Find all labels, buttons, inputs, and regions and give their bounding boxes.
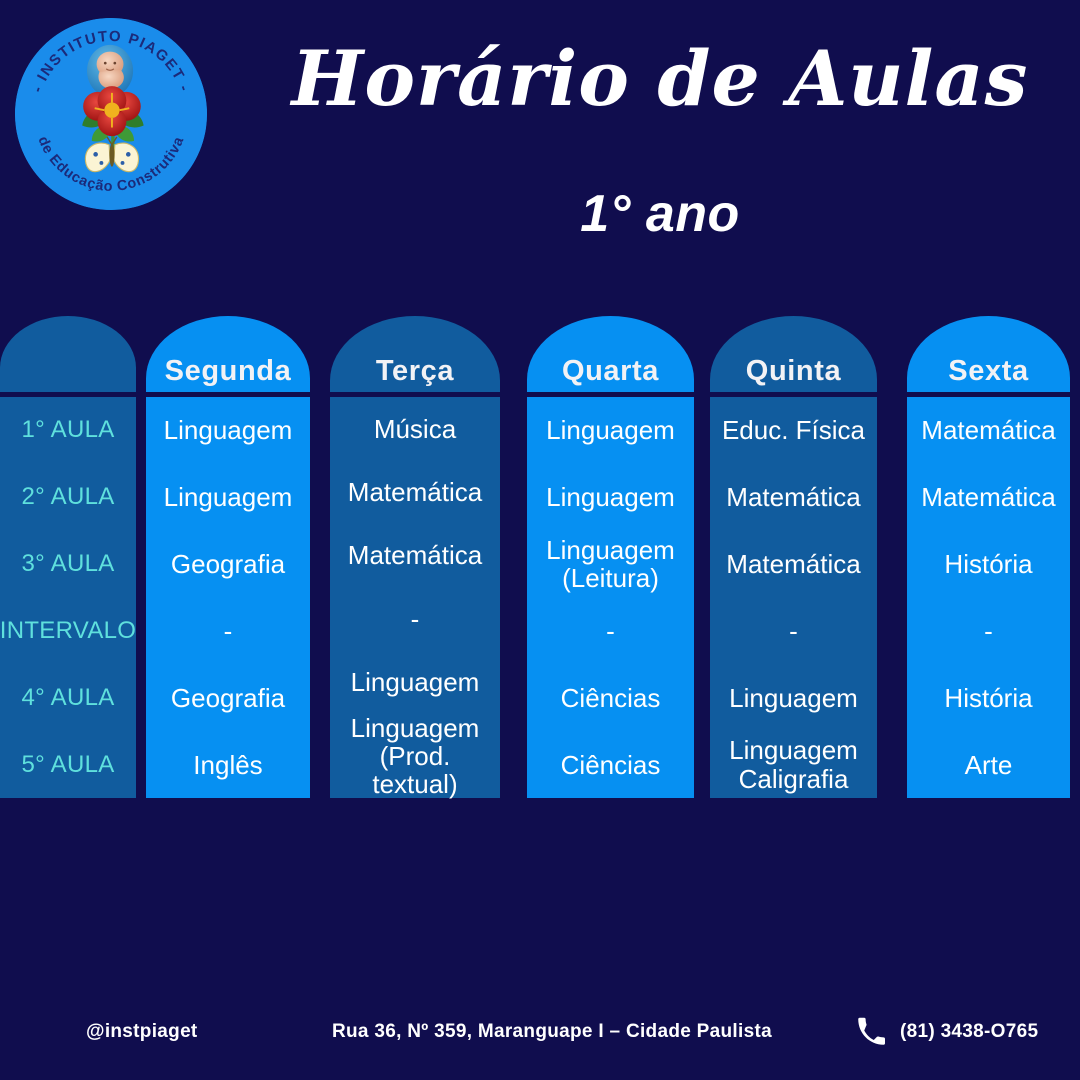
schedule-cell: Música bbox=[330, 397, 500, 460]
time-slot-label: 3° AULA bbox=[0, 531, 136, 598]
schedule-cell: - bbox=[527, 597, 694, 664]
institute-circular-logo: - INSTITUTO PIAGET - de Educação Constru… bbox=[15, 18, 207, 210]
schedule-cell: Matemática bbox=[710, 464, 877, 531]
time-slot-text: INTERVALO bbox=[0, 618, 136, 644]
schedule-cell: - bbox=[330, 587, 500, 650]
schedule-column-quarta: QuartaLinguagemLinguagemLinguagem(Leitur… bbox=[527, 316, 694, 798]
subject-text: Matemática bbox=[921, 483, 1055, 511]
subject-text: Linguagem bbox=[351, 668, 480, 696]
column-body-quinta: Educ. FísicaMatemáticaMatemática-Linguag… bbox=[710, 397, 877, 798]
schedule-cell: Linguagem bbox=[146, 464, 310, 531]
subject-text: LinguagemCaligrafia bbox=[729, 736, 858, 792]
subject-text: Linguagem bbox=[729, 684, 858, 712]
column-header-label: Sexta bbox=[948, 357, 1028, 386]
subject-text: Geografia bbox=[171, 684, 285, 712]
subject-text: Educ. Física bbox=[722, 416, 865, 444]
schedule-cell: Ciências bbox=[527, 664, 694, 731]
schedule-cell: Arte bbox=[907, 731, 1070, 798]
column-body-segunda: LinguagemLinguagemGeografia-GeografiaIng… bbox=[146, 397, 310, 798]
phone-number[interactable]: (81) 3438-O765 bbox=[900, 1021, 1038, 1043]
subject-text: Matemática bbox=[726, 550, 860, 578]
subject-text: Ciências bbox=[561, 751, 661, 779]
column-header-sexta: Sexta bbox=[907, 316, 1070, 392]
schedule-cell: Matemática bbox=[710, 531, 877, 598]
page-title: Horário de Aulas bbox=[250, 38, 1070, 120]
time-slot-label: 4° AULA bbox=[0, 664, 136, 731]
time-slot-label: INTERVALO bbox=[0, 597, 136, 664]
column-body-times: 1° AULA2° AULA3° AULAINTERVALO4° AULA5° … bbox=[0, 397, 136, 798]
subject-text: Matemática bbox=[726, 483, 860, 511]
schedule-cell: Geografia bbox=[146, 531, 310, 598]
subject-text: Linguagem bbox=[546, 483, 675, 511]
schedule-cell: Matemática bbox=[907, 397, 1070, 464]
schedule-cell: - bbox=[710, 597, 877, 664]
time-slot-label: 5° AULA bbox=[0, 731, 136, 798]
schedule-cell: Matemática bbox=[330, 524, 500, 587]
time-slot-label: 1° AULA bbox=[0, 397, 136, 464]
schedule-cell: Educ. Física bbox=[710, 397, 877, 464]
subject-text: - bbox=[984, 617, 993, 645]
subject-text: - bbox=[606, 617, 615, 645]
subject-text: Matemática bbox=[348, 478, 482, 506]
time-slot-text: 2° AULA bbox=[21, 484, 114, 510]
address-text: Rua 36, Nº 359, Maranguape I – Cidade Pa… bbox=[332, 1021, 772, 1043]
schedule-cell: Matemática bbox=[330, 460, 500, 523]
page-subtitle: 1° ano bbox=[250, 184, 1070, 244]
schedule-table: 1° AULA2° AULA3° AULAINTERVALO4° AULA5° … bbox=[0, 316, 1080, 798]
column-header-label: Quarta bbox=[562, 357, 659, 386]
schedule-cell: Inglês bbox=[146, 731, 310, 798]
subject-text: Arte bbox=[965, 751, 1013, 779]
schedule-column-quinta: QuintaEduc. FísicaMatemáticaMatemática-L… bbox=[710, 316, 877, 798]
schedule-cell: - bbox=[146, 597, 310, 664]
time-slot-text: 4° AULA bbox=[21, 685, 114, 711]
schedule-column-sexta: SextaMatemáticaMatemáticaHistória-Histór… bbox=[907, 316, 1070, 798]
time-slot-text: 5° AULA bbox=[21, 752, 114, 778]
time-slot-text: 1° AULA bbox=[21, 417, 114, 443]
subject-text: Linguagem(Leitura) bbox=[546, 536, 675, 592]
column-body-sexta: MatemáticaMatemáticaHistória-HistóriaArt… bbox=[907, 397, 1070, 798]
subject-text: Linguagem bbox=[164, 483, 293, 511]
time-slot-label: 2° AULA bbox=[0, 464, 136, 531]
subject-text: - bbox=[789, 617, 798, 645]
subject-text: Linguagem bbox=[164, 416, 293, 444]
subject-text: - bbox=[411, 605, 420, 633]
column-header-terca: Terça bbox=[330, 316, 500, 392]
subject-text: Inglês bbox=[193, 751, 262, 779]
footer: @instpiaget Rua 36, Nº 359, Maranguape I… bbox=[0, 1012, 1080, 1052]
schedule-column-terca: TerçaMúsicaMatemáticaMatemática-Linguage… bbox=[330, 316, 500, 798]
schedule-cell: História bbox=[907, 531, 1070, 598]
column-header-label: Quinta bbox=[746, 357, 841, 386]
institute-logo: - INSTITUTO PIAGET - de Educação Constru… bbox=[15, 18, 207, 210]
schedule-cell: Linguagem(Leitura) bbox=[527, 531, 694, 598]
schedule-cell: Geografia bbox=[146, 664, 310, 731]
time-slot-text: 3° AULA bbox=[21, 551, 114, 577]
schedule-column-segunda: SegundaLinguagemLinguagemGeografia-Geogr… bbox=[146, 316, 310, 798]
subject-text: - bbox=[224, 617, 233, 645]
schedule-cell: Linguagem bbox=[710, 664, 877, 731]
subject-text: Ciências bbox=[561, 684, 661, 712]
schedule-cell: Linguagem bbox=[146, 397, 310, 464]
schedule-cell: História bbox=[907, 664, 1070, 731]
schedule-cell: Linguagem bbox=[527, 397, 694, 464]
column-header-quarta: Quarta bbox=[527, 316, 694, 392]
schedule-cell: Matemática bbox=[907, 464, 1070, 531]
column-header-label: Terça bbox=[376, 357, 454, 386]
schedule-cell: LinguagemCaligrafia bbox=[710, 731, 877, 798]
column-header-times bbox=[0, 316, 136, 392]
schedule-cell: Linguagem bbox=[527, 464, 694, 531]
phone-icon bbox=[856, 1017, 886, 1047]
subject-text: Matemática bbox=[921, 416, 1055, 444]
subject-text: Linguagem(Prod. textual) bbox=[334, 714, 496, 798]
instagram-handle[interactable]: @instpiaget bbox=[86, 1021, 198, 1043]
column-header-label: Segunda bbox=[165, 357, 292, 386]
subject-text: Geografia bbox=[171, 550, 285, 578]
subject-text: História bbox=[944, 684, 1032, 712]
schedule-cell: - bbox=[907, 597, 1070, 664]
schedule-cell: Linguagem bbox=[330, 650, 500, 713]
subject-text: História bbox=[944, 550, 1032, 578]
subject-text: Linguagem bbox=[546, 416, 675, 444]
schedule-cell: Ciências bbox=[527, 731, 694, 798]
column-header-segunda: Segunda bbox=[146, 316, 310, 392]
column-header-quinta: Quinta bbox=[710, 316, 877, 392]
column-body-quarta: LinguagemLinguagemLinguagem(Leitura)-Ciê… bbox=[527, 397, 694, 798]
subject-text: Matemática bbox=[348, 541, 482, 569]
schedule-cell: Linguagem(Prod. textual) bbox=[330, 714, 500, 798]
column-body-terca: MúsicaMatemáticaMatemática-LinguagemLing… bbox=[330, 397, 500, 798]
schedule-column-times: 1° AULA2° AULA3° AULAINTERVALO4° AULA5° … bbox=[0, 316, 136, 798]
subject-text: Música bbox=[374, 415, 456, 443]
